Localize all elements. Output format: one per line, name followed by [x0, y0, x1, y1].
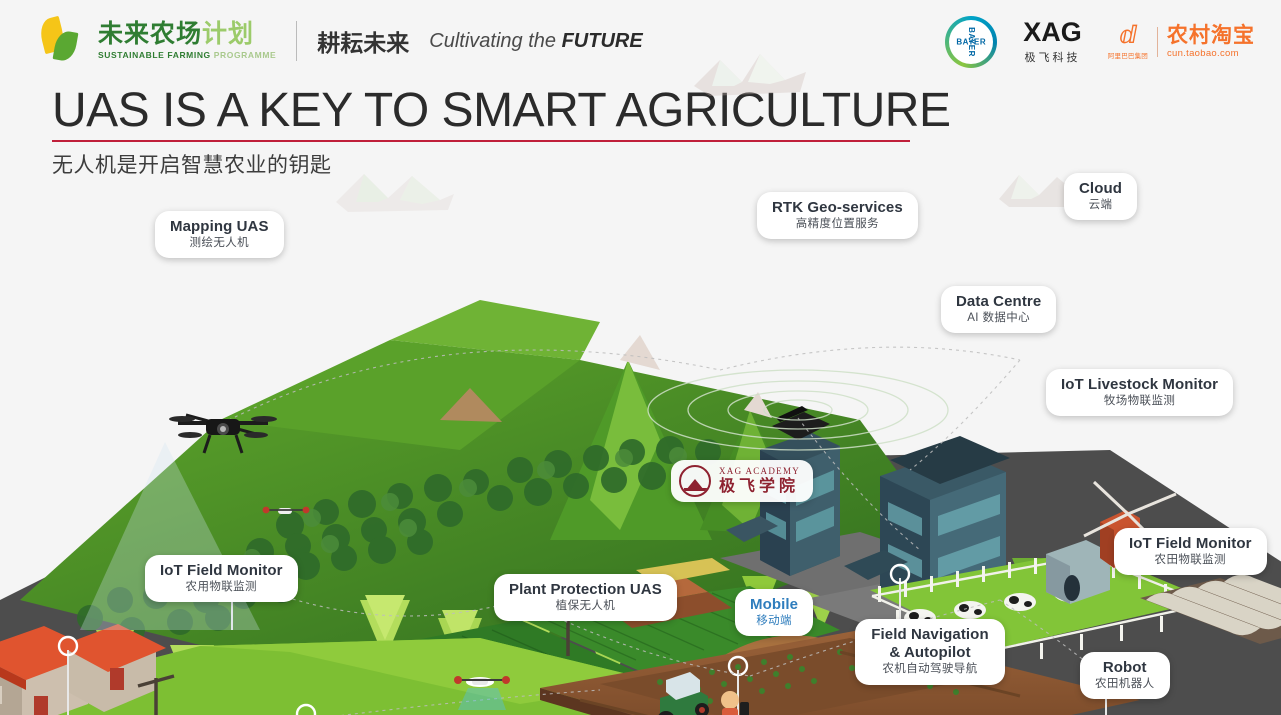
tagline-cn: 耕耘未来 — [317, 24, 409, 58]
taobao-divider — [1157, 27, 1158, 57]
callout-rtk-geo-services[interactable]: RTK Geo-services 高精度位置服务 — [757, 192, 918, 239]
callout-label-en: Cloud — [1079, 180, 1122, 198]
xag-logo: XAG 极飞科技 — [1023, 19, 1082, 65]
callout-label-en: IoT Field Monitor — [1129, 535, 1252, 553]
brand-text: 未来农场计划 SUSTAINABLE FARMING PROGRAMME — [98, 22, 276, 60]
callout-label-en: Plant Protection UAS — [509, 581, 662, 599]
callout-data-centre[interactable]: Data Centre AI 数据中心 — [941, 286, 1056, 333]
brand-name-en: SUSTAINABLE FARMING PROGRAMME — [98, 51, 276, 60]
bayer-wordmark-vertical: BAYER — [967, 27, 976, 57]
brand-lockup: 未来农场计划 SUSTAINABLE FARMING PROGRAMME 耕耘未… — [40, 18, 643, 64]
callout-label-en: IoT Field Monitor — [160, 562, 283, 580]
callout-label-cn: 农机自动驾驶导航 — [870, 663, 990, 677]
callout-mobile[interactable]: Mobile 移动端 — [735, 589, 813, 636]
callout-plant-protection-uas[interactable]: Plant Protection UAS 植保无人机 — [494, 574, 677, 621]
callout-label-en: IoT Livestock Monitor — [1061, 376, 1218, 394]
callout-label-cn: 植保无人机 — [509, 600, 662, 614]
callout-label-en: Field Navigation & Autopilot — [870, 626, 990, 662]
bayer-logo: BAYER BAYER — [945, 16, 997, 68]
callout-robot[interactable]: Robot 农田机器人 — [1080, 652, 1170, 699]
callout-field-navigation-autopilot[interactable]: Field Navigation & Autopilot 农机自动驾驶导航 — [855, 619, 1005, 685]
callout-mapping-uas[interactable]: Mapping UAS 测绘无人机 — [155, 211, 284, 258]
callout-label-en: RTK Geo-services — [772, 199, 903, 217]
callout-label-en: Data Centre — [956, 293, 1041, 311]
taobao-swoosh-icon: ⅆ — [1108, 24, 1148, 48]
tagline-en: Cultivating the FUTURE — [429, 30, 642, 53]
mapping-drone-icon — [168, 405, 278, 469]
page-title: UAS IS A KEY TO SMART AGRICULTURE — [52, 86, 950, 136]
callout-label-cn: 牧场物联监测 — [1061, 395, 1218, 409]
callout-iot-field-monitor-left[interactable]: IoT Field Monitor 农用物联监测 — [145, 555, 298, 602]
xag-academy-label-en: XAG ACADEMY — [719, 467, 800, 477]
callout-label-cn: AI 数据中心 — [956, 312, 1041, 326]
xag-wordmark-cn: 极飞科技 — [1023, 49, 1082, 65]
xag-academy-badge[interactable]: XAG ACADEMY 极飞学院 — [671, 460, 813, 502]
title-underline — [52, 140, 910, 142]
cun-taobao-url: cun.taobao.com — [1167, 49, 1255, 59]
callout-label-en: Mapping UAS — [170, 218, 269, 236]
xag-wordmark: XAG — [1023, 19, 1082, 46]
callout-label-cn: 农用物联监测 — [160, 581, 283, 595]
callout-label-en: Mobile — [750, 596, 798, 614]
floating-terrain-icon — [330, 160, 460, 218]
slide-canvas: 未来农场计划 SUSTAINABLE FARMING PROGRAMME 耕耘未… — [0, 0, 1281, 715]
brand-name-cn: 未来农场计划 — [98, 22, 276, 47]
brand-divider — [296, 21, 297, 61]
floating-terrain-icon — [690, 42, 810, 102]
alibaba-group-label: 阿里巴巴集团 — [1108, 50, 1148, 60]
callout-label-cn: 云端 — [1079, 199, 1122, 213]
sustainable-farming-leaf-icon — [40, 18, 84, 64]
callout-label-cn: 农田机器人 — [1095, 678, 1155, 692]
callout-label-cn: 测绘无人机 — [170, 237, 269, 251]
callout-label-cn: 移动端 — [750, 615, 798, 629]
callout-cloud[interactable]: Cloud 云端 — [1064, 173, 1137, 220]
callout-label-cn: 高精度位置服务 — [772, 218, 903, 232]
cun-taobao-logo: ⅆ 阿里巴巴集团 农村淘宝 cun.taobao.com — [1108, 24, 1255, 60]
cun-taobao-name-cn: 农村淘宝 — [1167, 25, 1255, 46]
callout-iot-livestock-monitor[interactable]: IoT Livestock Monitor 牧场物联监测 — [1046, 369, 1233, 416]
xag-academy-mountain-icon — [679, 465, 711, 497]
callout-label-en: Robot — [1095, 659, 1155, 677]
partner-logos: BAYER BAYER XAG 极飞科技 ⅆ 阿里巴巴集团 农村淘宝 cun.t… — [945, 16, 1255, 68]
callout-iot-field-monitor-right[interactable]: IoT Field Monitor 农田物联监测 — [1114, 528, 1267, 575]
callout-label-cn: 农田物联监测 — [1129, 554, 1252, 568]
xag-academy-label-cn: 极飞学院 — [719, 478, 800, 496]
